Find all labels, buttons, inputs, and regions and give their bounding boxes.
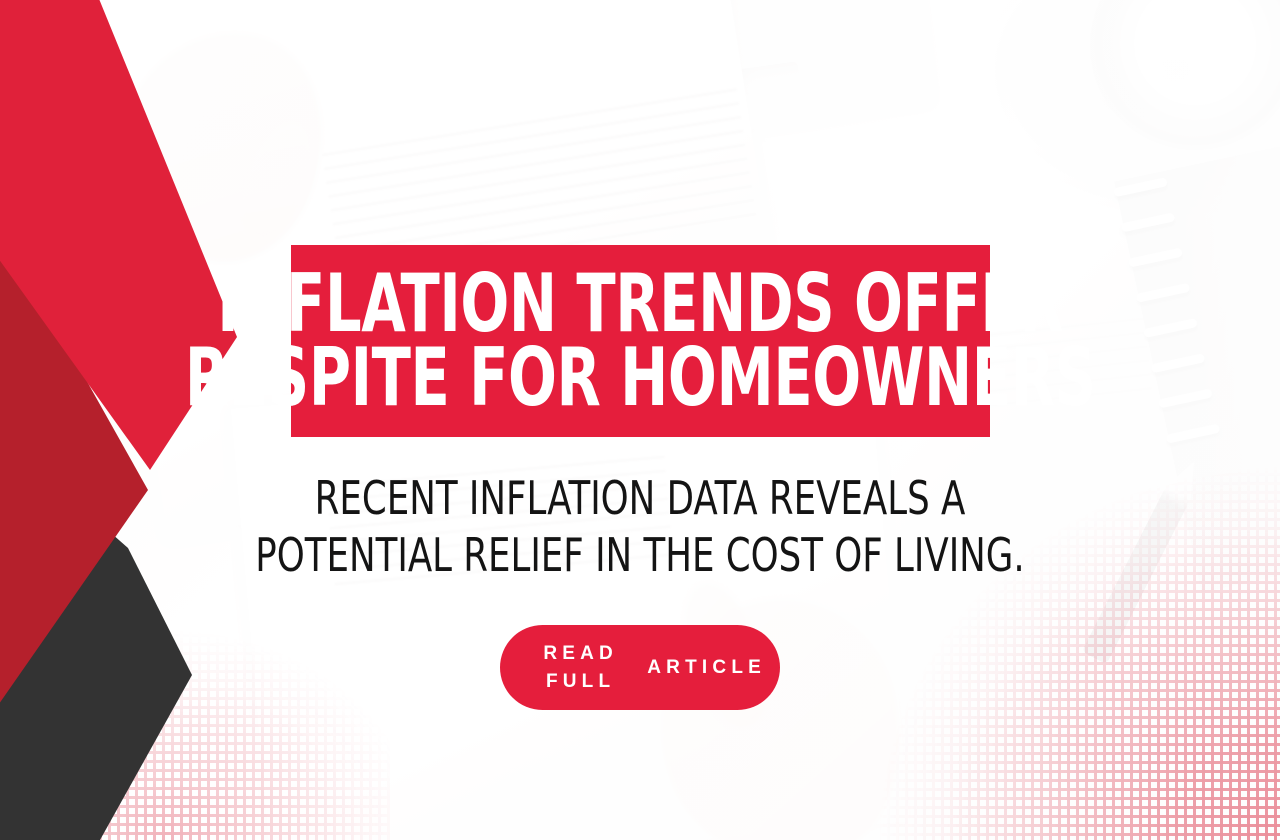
headline-line-2: RESPITE FOR HOMEOWNERS [185,341,1096,415]
promo-poster: INFLATION TRENDS OFFER RESPITE FOR HOMEO… [0,0,1280,840]
headline-line-1: INFLATION TRENDS OFFER [185,267,1096,341]
cta-label-line-2: ARTICLE [647,654,766,682]
subtitle: RECENT INFLATION DATA REVEALS A POTENTIA… [90,470,1191,584]
subtitle-line-1: RECENT INFLATION DATA REVEALS A [90,470,1191,527]
cta-label-line-1: READ FULL [514,640,647,695]
read-full-article-button[interactable]: READ FULL ARTICLE [500,625,780,710]
subtitle-line-2: POTENTIAL RELIEF IN THE COST OF LIVING. [90,527,1191,584]
headline-banner: INFLATION TRENDS OFFER RESPITE FOR HOMEO… [291,245,990,437]
page-title: INFLATION TRENDS OFFER RESPITE FOR HOMEO… [185,267,1096,414]
